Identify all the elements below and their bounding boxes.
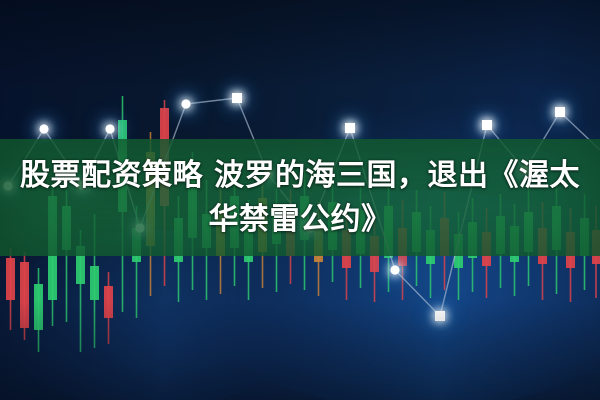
headline-band: 股票配资策略 波罗的海三国，退出《渥太华禁雷公约》 (0, 139, 600, 256)
page-title: 股票配资策略 波罗的海三国，退出《渥太华禁雷公约》 (7, 154, 593, 242)
news-banner: 股票配资策略 波罗的海三国，退出《渥太华禁雷公约》 (0, 0, 600, 400)
